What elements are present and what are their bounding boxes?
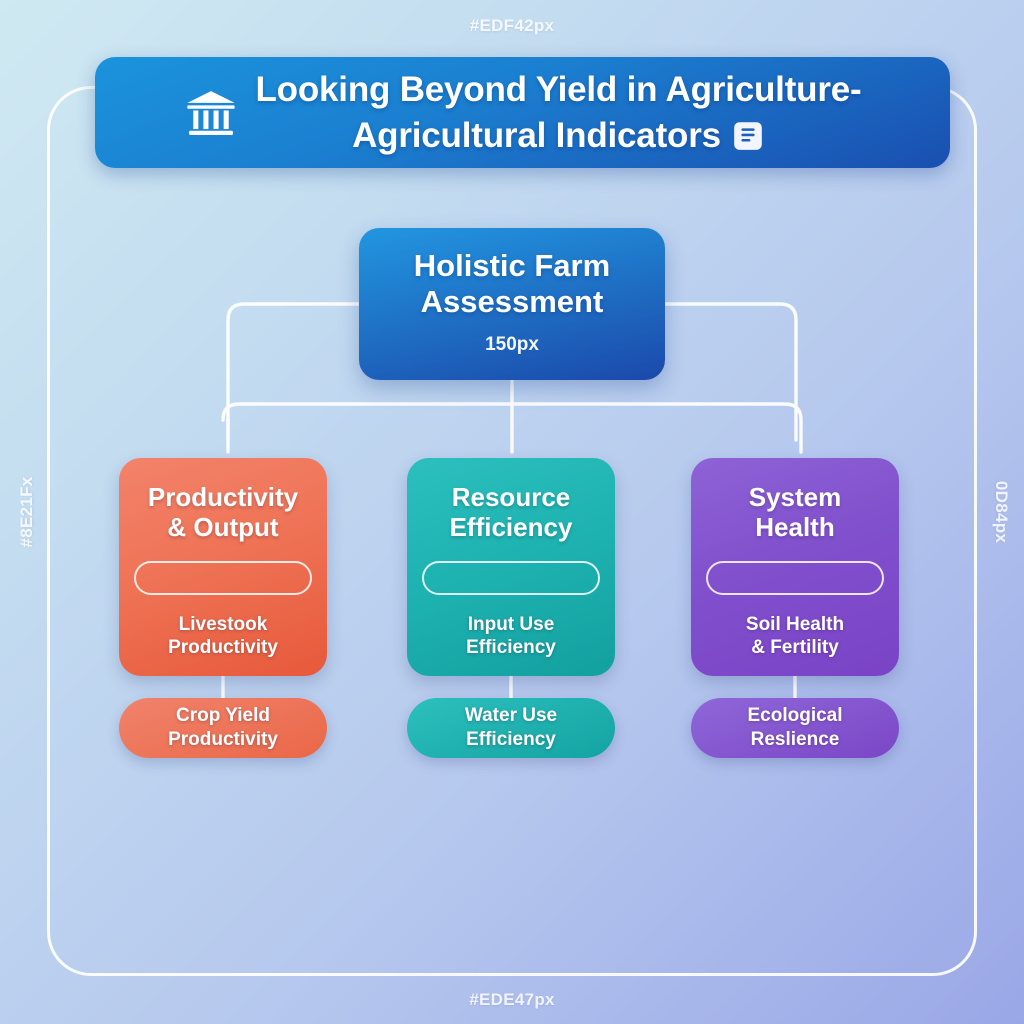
root-title-line1: Holistic Farm xyxy=(414,248,610,283)
branch-title: Resource Efficiency xyxy=(450,482,573,542)
branch-title-line2: & Output xyxy=(167,512,278,542)
branch-card-system-health[interactable]: System Health Soil Health & Fertility xyxy=(691,458,899,676)
header-title-line2: Agricultural Indicators xyxy=(352,116,721,155)
branch-title: Productivity & Output xyxy=(148,482,298,542)
branch-item-label: Input Use Efficiency xyxy=(466,613,556,661)
left-edge-label: #8E21Fx xyxy=(17,467,37,557)
bottom-edge-label: #EDE47px xyxy=(0,990,1024,1010)
branch-pill-slot[interactable] xyxy=(706,561,884,594)
branch-item-line2: & Fertility xyxy=(751,637,839,658)
sub-card-label: Crop Yield Productivity xyxy=(168,704,278,752)
sub-label-line1: Crop Yield xyxy=(176,705,270,726)
top-edge-label: #EDF42px xyxy=(0,16,1024,36)
root-node-subtitle: 150px xyxy=(485,334,539,356)
sub-label-line2: Efficiency xyxy=(466,729,556,750)
branch-title: System Health xyxy=(749,482,842,542)
sub-card-water-use-efficiency[interactable]: Water Use Efficiency xyxy=(407,698,615,758)
branch-item-line1: Soil Health xyxy=(746,614,844,635)
sub-card-crop-yield-productivity[interactable]: Crop Yield Productivity xyxy=(119,698,327,758)
header-banner: Looking Beyond Yield in Agriculture- Agr… xyxy=(95,57,950,168)
bank-building-icon xyxy=(184,86,238,140)
branch-item-label: Livestook Productivity xyxy=(168,613,278,661)
sub-label-line1: Water Use xyxy=(465,705,557,726)
branch-pill-slot[interactable] xyxy=(134,561,312,594)
branch-item-line2: Efficiency xyxy=(466,637,556,658)
branch-item-label: Soil Health & Fertility xyxy=(746,613,844,661)
sub-label-line2: Productivity xyxy=(168,729,278,750)
branch-column-productivity-output: Productivity & Output Livestook Producti… xyxy=(119,458,327,758)
branch-item-line2: Productivity xyxy=(168,637,278,658)
sub-label-line1: Ecological xyxy=(747,705,842,726)
branch-pill-slot[interactable] xyxy=(422,561,600,594)
branch-card-resource-efficiency[interactable]: Resource Efficiency Input Use Efficiency xyxy=(407,458,615,676)
branch-card-productivity-output[interactable]: Productivity & Output Livestook Producti… xyxy=(119,458,327,676)
root-title-line2: Assessment xyxy=(421,284,604,319)
branch-title-line1: Resource xyxy=(452,482,571,512)
sub-card-ecological-reslience[interactable]: Ecological Reslience xyxy=(691,698,899,758)
right-edge-label: 0D84px xyxy=(991,467,1011,557)
branch-column-system-health: System Health Soil Health & Fertility Ec… xyxy=(691,458,899,758)
page-title: Looking Beyond Yield in Agriculture- Agr… xyxy=(256,67,862,158)
scroll-document-icon xyxy=(731,119,765,153)
branch-title-line1: Productivity xyxy=(148,482,298,512)
branch-title-line1: System xyxy=(749,482,842,512)
branch-title-line2: Efficiency xyxy=(450,512,573,542)
branch-title-line2: Health xyxy=(755,512,834,542)
sub-label-line2: Reslience xyxy=(751,729,840,750)
root-node-holistic-farm-assessment[interactable]: Holistic Farm Assessment 150px xyxy=(359,228,665,380)
branch-column-resource-efficiency: Resource Efficiency Input Use Efficiency… xyxy=(407,458,615,758)
root-node-title: Holistic Farm Assessment xyxy=(414,248,610,320)
sub-card-label: Ecological Reslience xyxy=(747,704,842,752)
header-title-line1: Looking Beyond Yield in Agriculture- xyxy=(256,70,862,109)
sub-card-label: Water Use Efficiency xyxy=(465,704,557,752)
branch-item-line1: Input Use xyxy=(468,614,555,635)
branch-item-line1: Livestook xyxy=(179,614,268,635)
